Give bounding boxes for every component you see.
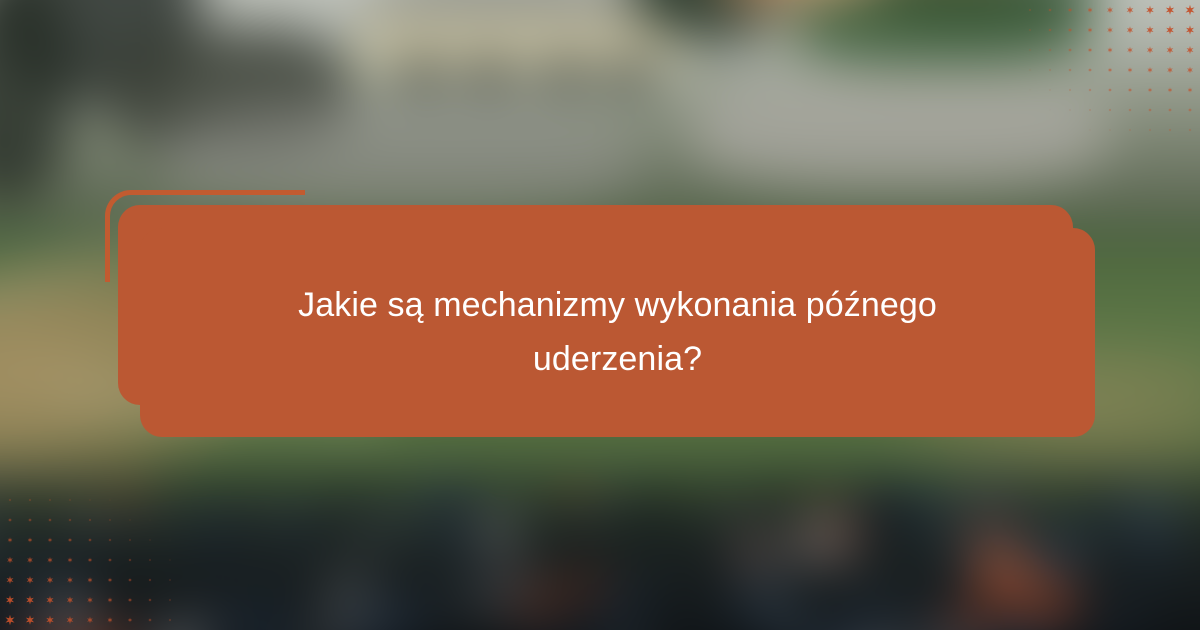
question-text: Jakie są mechanizmy wykonania późnego ud…	[238, 279, 998, 386]
card-outline-cap	[295, 190, 305, 195]
card-outline-cap	[105, 272, 110, 282]
question-card[interactable]: Jakie są mechanizmy wykonania późnego ud…	[140, 228, 1095, 437]
page-stage: Jakie są mechanizmy wykonania późnego ud…	[0, 0, 1200, 630]
question-card-group: Jakie są mechanizmy wykonania późnego ud…	[0, 0, 1200, 630]
